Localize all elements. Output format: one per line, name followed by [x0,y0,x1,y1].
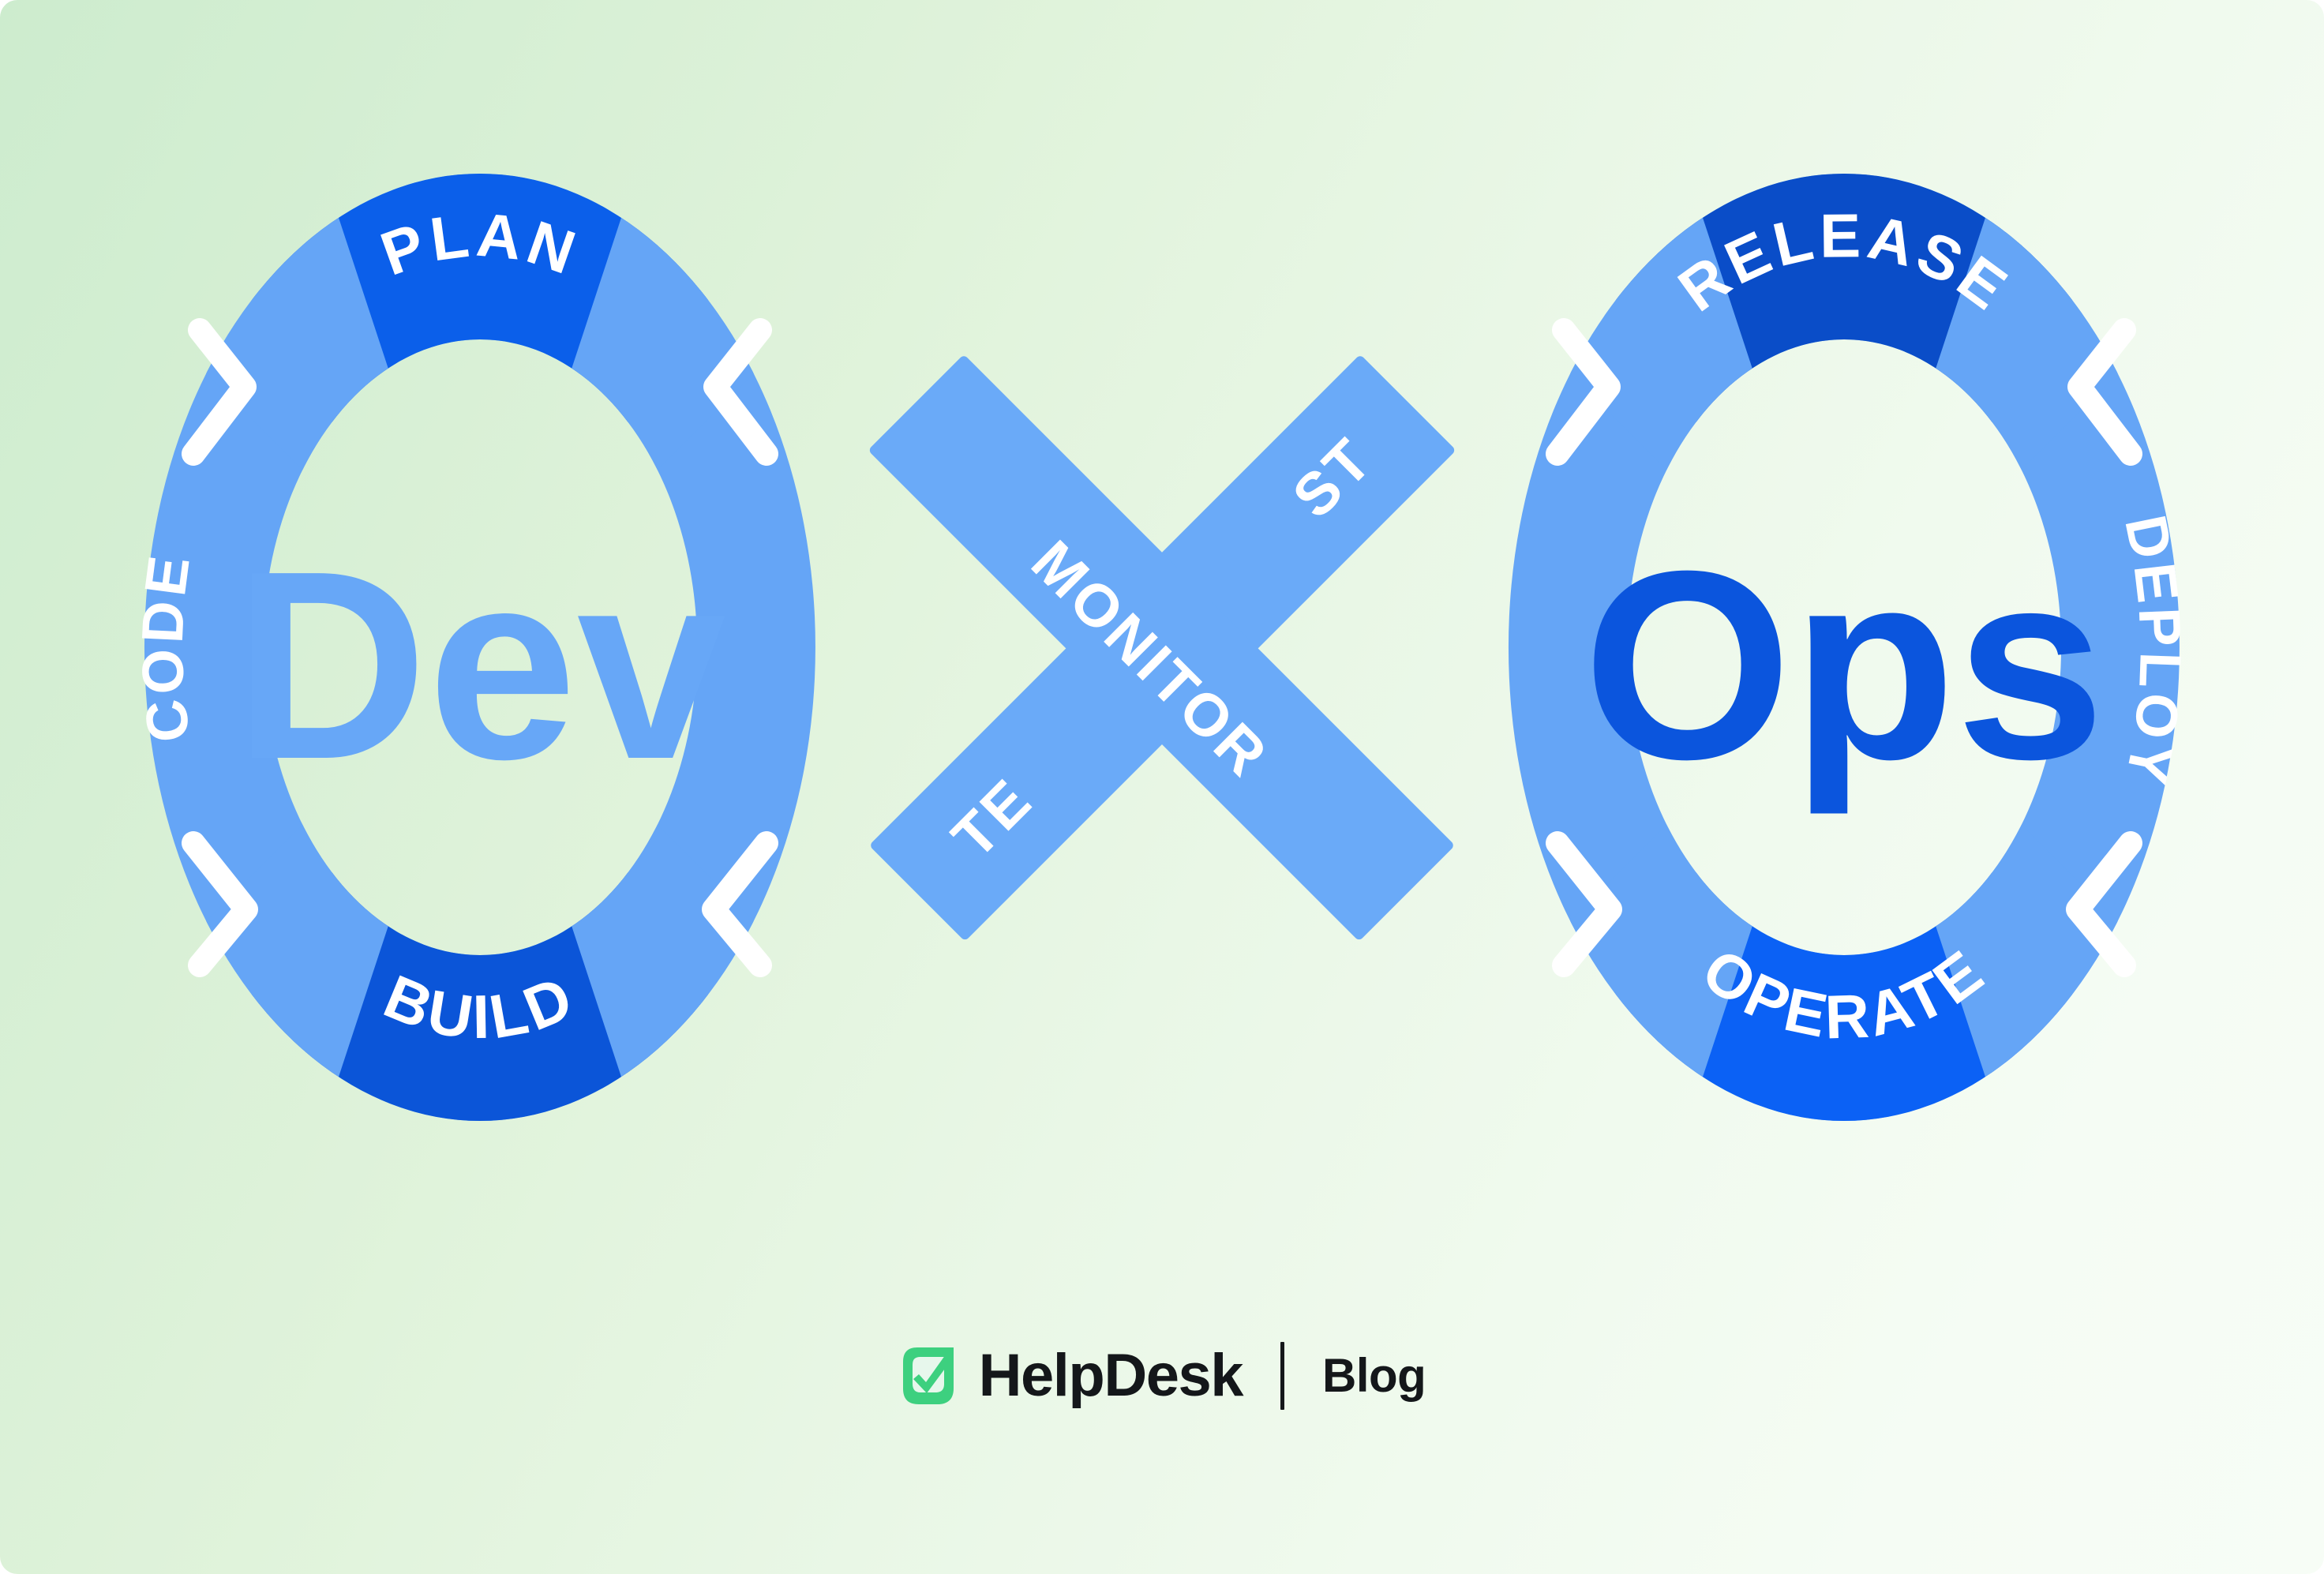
center-word-dev: Dev [234,515,728,815]
section-name[interactable]: Blog [1322,1352,1426,1400]
devops-loop-diagram: Dev Ops PLAN CODE BUILD RELEASE DEPLOY O… [0,0,2324,1574]
segment-label-code: CODE [129,549,203,746]
brand-divider [1280,1342,1284,1410]
center-word-ops: Ops [1583,515,2105,816]
footer-brand-lockup: HelpDesk Blog [0,1342,2324,1410]
brand-name: HelpDesk [979,1346,1243,1406]
screenshot-root: Dev Ops PLAN CODE BUILD RELEASE DEPLOY O… [0,0,2324,1574]
helpdesk-logo[interactable]: HelpDesk [898,1344,1243,1407]
green-check-square-icon [898,1344,958,1407]
illustration-canvas: Dev Ops PLAN CODE BUILD RELEASE DEPLOY O… [0,0,2324,1574]
